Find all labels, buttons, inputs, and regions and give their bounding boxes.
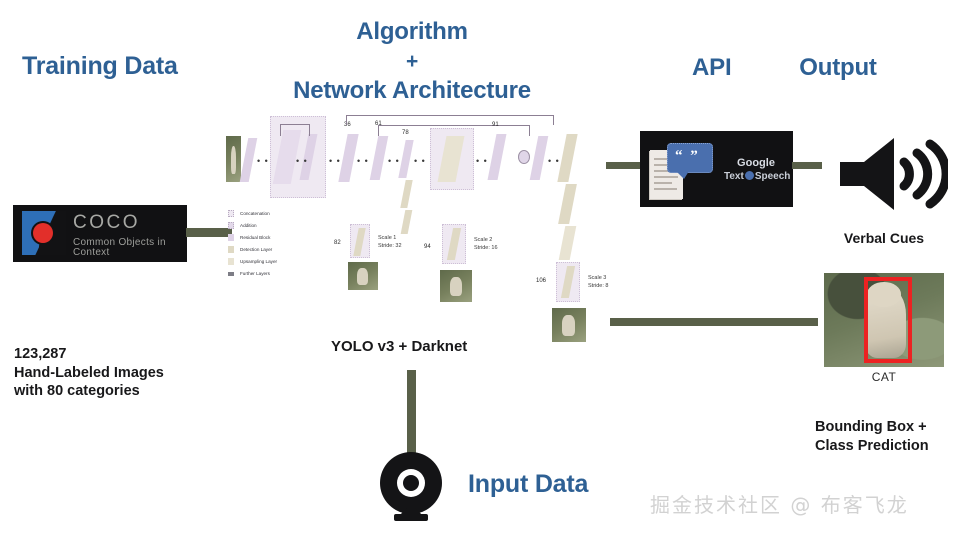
coco-wordmark: COCO [73,213,187,232]
webcam-pupil [403,475,419,491]
scale2-name: Scale 2 [474,237,492,243]
network-ellipsis: • • [357,157,369,166]
coco-tagline: Common Objects in Context [73,238,187,258]
scale1-stride: Stride: 32 [378,243,402,249]
coco-logo-text: COCO Common Objects in Context [73,213,187,258]
network-ellipsis: • • [388,157,400,166]
network-detection-branch [401,210,413,234]
google-tts-wordmark: Google TextSpeech [724,157,788,183]
legend-label-detection-layer: Detection Layer [240,247,272,252]
webcam-icon [380,452,442,524]
legend-label-residual-block: Residual Block [240,235,270,240]
network-scale3-label: Scale 3 Stride: 8 [588,274,608,291]
legend-label-upsampling-layer: Upsampling Layer [240,259,277,264]
coco-dataset-card: COCO Common Objects in Context [13,205,187,262]
section-heading-input-data: Input Data [468,470,588,499]
network-ellipsis: • • [296,157,308,166]
coco-logo-icon [22,211,66,255]
network-scale1-label: Scale 1 Stride: 32 [378,234,402,251]
network-concat-node [518,150,530,164]
algorithm-caption: YOLO v3 + Darknet [331,337,467,356]
connector-camera-to-network [407,370,416,458]
network-layer-label-94: 94 [424,244,431,250]
network-ellipsis: • • [548,157,560,166]
network-layer [370,136,389,180]
network-route-bus-36 [346,115,554,125]
network-ellipsis: • • [329,157,341,166]
quote-glyph: “ ” [675,148,700,165]
legend-swatch-upsampling-layer [228,258,234,265]
network-layer [338,134,358,182]
legend-swatch-addition [228,222,234,229]
network-layer-label-82: 82 [334,240,341,246]
network-layer [558,184,577,224]
heading-algorithm-plus: + [293,48,531,76]
scale1-name: Scale 1 [378,235,396,241]
network-layer-label-78: 78 [402,130,409,136]
detection-result-photo [824,273,944,367]
legend-swatch-residual-block [228,234,234,241]
tts-word-text: Text [724,171,744,182]
detection-output-caption: Bounding Box + Class Prediction [815,418,929,455]
network-detection-thumbnail-scale3 [552,308,586,342]
section-heading-output: Output [799,54,876,82]
section-heading-api: API [692,54,731,82]
watermark: 掘金技术社区 @ 布客飞龙 [650,489,909,518]
detection-class-label: CAT [872,370,897,384]
network-layer [398,140,413,178]
network-layer [488,134,507,180]
speaker-icon [838,136,948,212]
document-line [654,176,678,178]
network-layer-label-91: 91 [492,122,499,128]
network-detection-thumbnail-scale1 [348,262,378,290]
scale3-name: Scale 3 [588,275,606,281]
network-detection-thumbnail-scale2 [440,270,472,302]
text-to-speech-wordmark: TextSpeech [724,171,788,184]
coco-logo-dot [33,223,53,243]
section-heading-training-data: Training Data [22,52,178,81]
yolo-network-architecture-figure: • • • • • • 36 • • 61 • • 78 • • 82 Scal… [226,112,616,360]
section-heading-algorithm: Algorithm + Network Architecture [293,16,531,107]
network-layer [240,138,258,182]
document-line [654,182,672,184]
heading-algorithm-line1: Algorithm [356,18,468,45]
legend-swatch-further-layers [228,272,234,276]
legend-swatch-detection-layer [228,246,234,253]
quote-bubble-icon: “ ” [667,143,713,173]
network-scale2-label: Scale 2 Stride: 16 [474,236,498,253]
google-wordmark: Google [724,157,788,171]
legend-label-further-layers: Further Layers [240,271,270,276]
tts-word-speech: Speech [755,171,791,182]
bounding-box-overlay [864,277,912,363]
network-residual-skip [280,124,310,136]
network-layer [530,136,549,180]
scale2-stride: Stride: 16 [474,245,498,251]
diagram-canvas: Training Data Algorithm + Network Archit… [0,0,960,540]
training-data-caption: 123,287 Hand-Labeled Images with 80 cate… [14,345,164,401]
network-input-thumbnail [226,136,241,182]
network-ellipsis: • • [414,157,426,166]
document-line [654,188,677,190]
verbal-cues-caption: Verbal Cues [844,230,924,248]
network-detection-branch [400,180,412,208]
google-tts-api-card: “ ” Google TextSpeech [640,131,793,207]
legend-label-concatenation: Concatenation [240,211,270,216]
tts-to-dot-icon [745,171,754,180]
legend-swatch-concatenation [228,210,234,217]
legend-label-addition: Addition [240,223,257,228]
network-layer [557,134,577,182]
network-layer-label-106: 106 [536,278,546,284]
scale3-stride: Stride: 8 [588,283,608,289]
connector-network-to-detection [610,318,818,326]
network-layer [559,226,577,260]
network-ellipsis: • • [476,157,488,166]
network-ellipsis: • • [257,157,269,166]
heading-algorithm-line2: Network Architecture [293,77,531,104]
connector-api-to-output [792,162,822,169]
webcam-base [394,514,428,521]
connector-network-to-api [606,162,642,169]
